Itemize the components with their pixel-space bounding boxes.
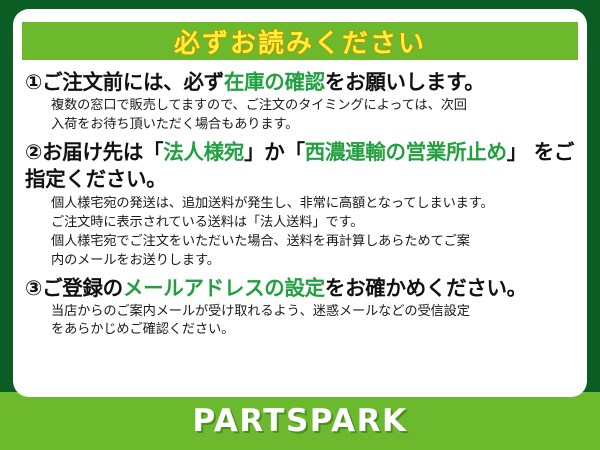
header-band: 必ずお読みください [22, 22, 578, 60]
footer-band: PARTSPARK [0, 392, 600, 450]
notice-item-2-heading: ②お届け先は「法人様宛」か「西濃運輸の営業所止め」 をご指定ください。 [25, 139, 577, 193]
brand-wordmark: PARTSPARK [192, 403, 407, 439]
notice-item-1-marker: ① [25, 70, 42, 94]
notice-item-2-subtext: 個人様宅宛の発送は、追加送料が発生し、非常に高額となってしまいます。 ご注文時に… [25, 193, 577, 271]
notice-item-2-marker: ② [25, 140, 42, 164]
notice-item-2-heading-mid: 」か「 [244, 140, 305, 164]
notice-list: ①ご注文前には、必ず在庫の確認をお願いします。 複数の窓口で販売してますので、ご… [13, 69, 587, 344]
notice-item-3-heading-lead: ご登録の [42, 276, 123, 300]
notice-item-2: ②お届け先は「法人様宛」か「西濃運輸の営業所止め」 をご指定ください。 個人様宅… [25, 139, 577, 271]
notice-item-1-heading-highlight: 在庫の確認 [224, 70, 325, 94]
notice-item-1-heading-lead: ご注文前には、必ず [42, 70, 224, 94]
notice-item-2-heading-highlight-2: 西濃運輸の営業所止め [305, 140, 507, 164]
notice-item-3-heading-highlight: メールアドレスの設定 [123, 276, 325, 300]
notice-item-2-heading-lead: お届け先は「 [42, 140, 163, 164]
notice-item-1: ①ご注文前には、必ず在庫の確認をお願いします。 複数の窓口で販売してますので、ご… [25, 69, 577, 135]
notice-banner: PARTSPARK 必ずお読みください ①ご注文前には、必ず在庫の確認をお願いし… [0, 0, 600, 450]
header-title: 必ずお読みください [174, 23, 426, 60]
notice-item-1-heading-tail: をお願いします。 [325, 70, 485, 94]
notice-item-1-heading: ①ご注文前には、必ず在庫の確認をお願いします。 [25, 69, 577, 96]
notice-item-3-heading: ③ご登録のメールアドレスの設定をお確かめください。 [25, 275, 577, 302]
notice-item-3-marker: ③ [25, 276, 42, 300]
notice-item-3: ③ご登録のメールアドレスの設定をお確かめください。 当店からのご案内メールが受け… [25, 275, 577, 341]
notice-item-3-heading-tail: をお確かめください。 [325, 276, 527, 300]
notice-item-2-heading-highlight: 法人様宛 [163, 140, 244, 164]
notice-item-3-subtext: 当店からのご案内メールが受け取れるよう、迷惑メールなどの受信設定 をあらかじめご… [25, 302, 577, 340]
content-panel: 必ずお読みください ①ご注文前には、必ず在庫の確認をお願いします。 複数の窓口で… [13, 9, 587, 397]
notice-item-1-subtext: 複数の窓口で販売してますので、ご注文のタイミングによっては、次回 入荷をお待ち頂… [25, 96, 577, 134]
